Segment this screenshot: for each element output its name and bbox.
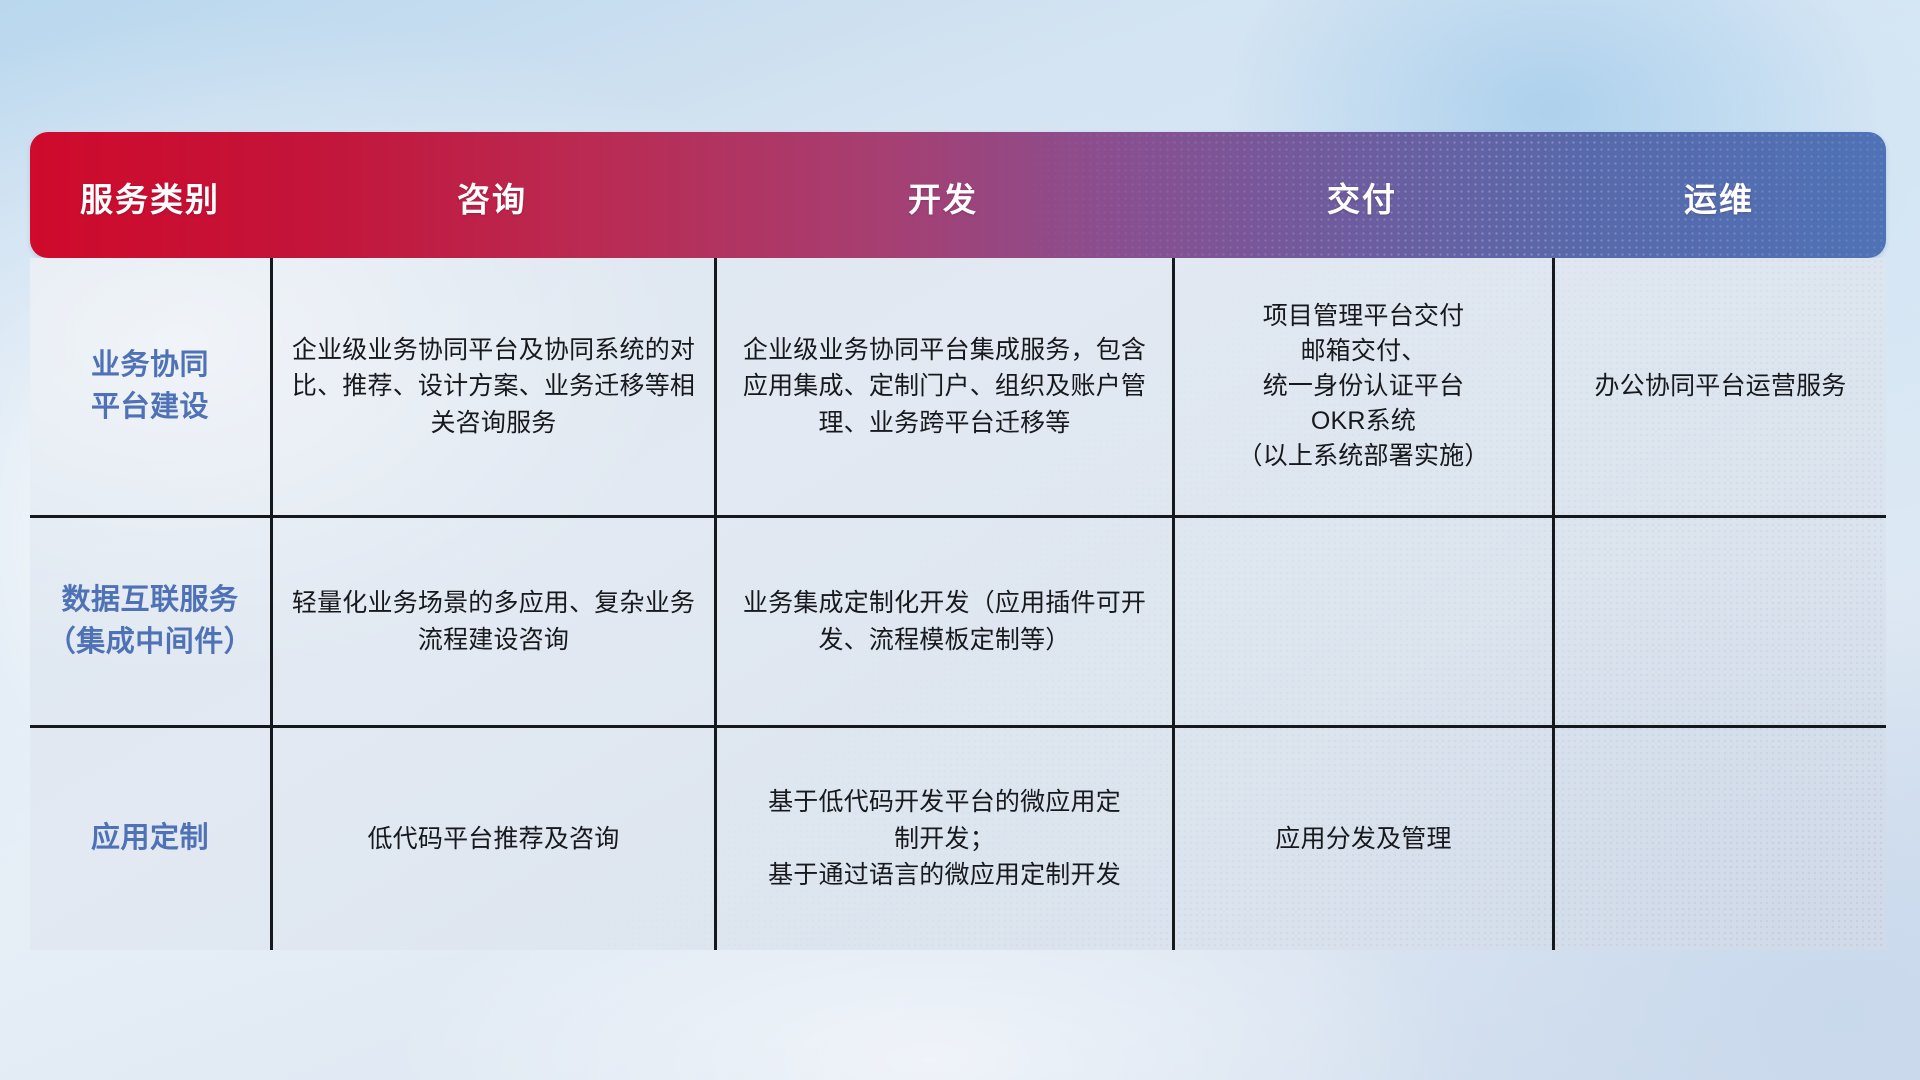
column-header-operations: 运维 [1552,132,1886,258]
cell-development: 业务集成定制化开发（应用插件可开发、流程模板定制等） [714,518,1172,725]
cell-text: 轻量化业务场景的多应用、复杂业务流程建设咨询 [289,585,698,658]
cell-text-line: 制开发； [768,821,1121,858]
table-row: 业务协同 平台建设 企业级业务协同平台及协同系统的对比、推荐、设计方案、业务迁移… [30,258,1886,518]
row-category-cell: 数据互联服务 （集成中间件） [30,518,270,725]
row-category-cell: 应用定制 [30,728,270,950]
table-row: 应用定制 低代码平台推荐及咨询 基于低代码开发平台的微应用定 制开发； 基于通过… [30,728,1886,950]
table-row: 数据互联服务 （集成中间件） 轻量化业务场景的多应用、复杂业务流程建设咨询 业务… [30,518,1886,728]
cell-text: 企业级业务协同平台集成服务，包含应用集成、定制门户、组织及账户管理、业务跨平台迁… [733,332,1156,442]
table-header-row: 服务类别 咨询 开发 交付 运维 [30,132,1886,258]
cell-development: 企业级业务协同平台集成服务，包含应用集成、定制门户、组织及账户管理、业务跨平台迁… [714,258,1172,515]
cell-delivery: 项目管理平台交付 邮箱交付、 统一身份认证平台 OKR系统 （以上系统部署实施） [1172,258,1552,515]
cell-text-line: 邮箱交付、 [1237,334,1489,369]
column-header-development: 开发 [714,132,1172,258]
cell-text: 企业级业务协同平台及协同系统的对比、推荐、设计方案、业务迁移等相关咨询服务 [289,332,698,442]
cell-text-line: 基于低代码开发平台的微应用定 [768,784,1121,821]
service-matrix-table: 服务类别 咨询 开发 交付 运维 业务协同 平台建设 企业级业务协同平台及协同系… [30,132,1886,950]
row-category-label: 数据互联服务 （集成中间件） [47,580,254,662]
cell-text: 办公协同平台运营服务 [1594,368,1846,405]
cell-development: 基于低代码开发平台的微应用定 制开发； 基于通过语言的微应用定制开发 [714,728,1172,950]
row-category-label: 业务协同 平台建设 [91,345,209,427]
table-body: 业务协同 平台建设 企业级业务协同平台及协同系统的对比、推荐、设计方案、业务迁移… [30,258,1886,950]
row-category-label: 应用定制 [91,818,209,859]
cell-text: 低代码平台推荐及咨询 [367,821,619,858]
cell-consulting: 轻量化业务场景的多应用、复杂业务流程建设咨询 [270,518,714,725]
cell-operations [1552,518,1886,725]
cell-operations [1552,728,1886,950]
column-header-delivery: 交付 [1172,132,1552,258]
cell-text-line: OKR系统 [1237,404,1489,439]
category-line: 应用定制 [91,818,209,859]
category-line: 业务协同 [91,345,209,386]
cell-text: 业务集成定制化开发（应用插件可开发、流程模板定制等） [733,585,1156,658]
cell-text-line: （以上系统部署实施） [1237,439,1489,474]
cell-text: 基于低代码开发平台的微应用定 制开发； 基于通过语言的微应用定制开发 [768,784,1121,894]
category-line: 数据互联服务 [47,580,254,621]
cell-text-line: 项目管理平台交付 [1237,299,1489,334]
cell-text-line: 统一身份认证平台 [1237,369,1489,404]
cell-text-line: 基于通过语言的微应用定制开发 [768,857,1121,894]
category-line: 平台建设 [91,387,209,428]
cell-delivery: 应用分发及管理 [1172,728,1552,950]
column-header-consulting: 咨询 [270,132,714,258]
cell-text: 应用分发及管理 [1275,821,1451,858]
cell-operations: 办公协同平台运营服务 [1552,258,1886,515]
cell-delivery [1172,518,1552,725]
cell-text: 项目管理平台交付 邮箱交付、 统一身份认证平台 OKR系统 （以上系统部署实施） [1237,299,1489,474]
cell-consulting: 低代码平台推荐及咨询 [270,728,714,950]
category-line: （集成中间件） [47,622,254,663]
row-category-cell: 业务协同 平台建设 [30,258,270,515]
column-header-category: 服务类别 [30,132,270,258]
cell-consulting: 企业级业务协同平台及协同系统的对比、推荐、设计方案、业务迁移等相关咨询服务 [270,258,714,515]
